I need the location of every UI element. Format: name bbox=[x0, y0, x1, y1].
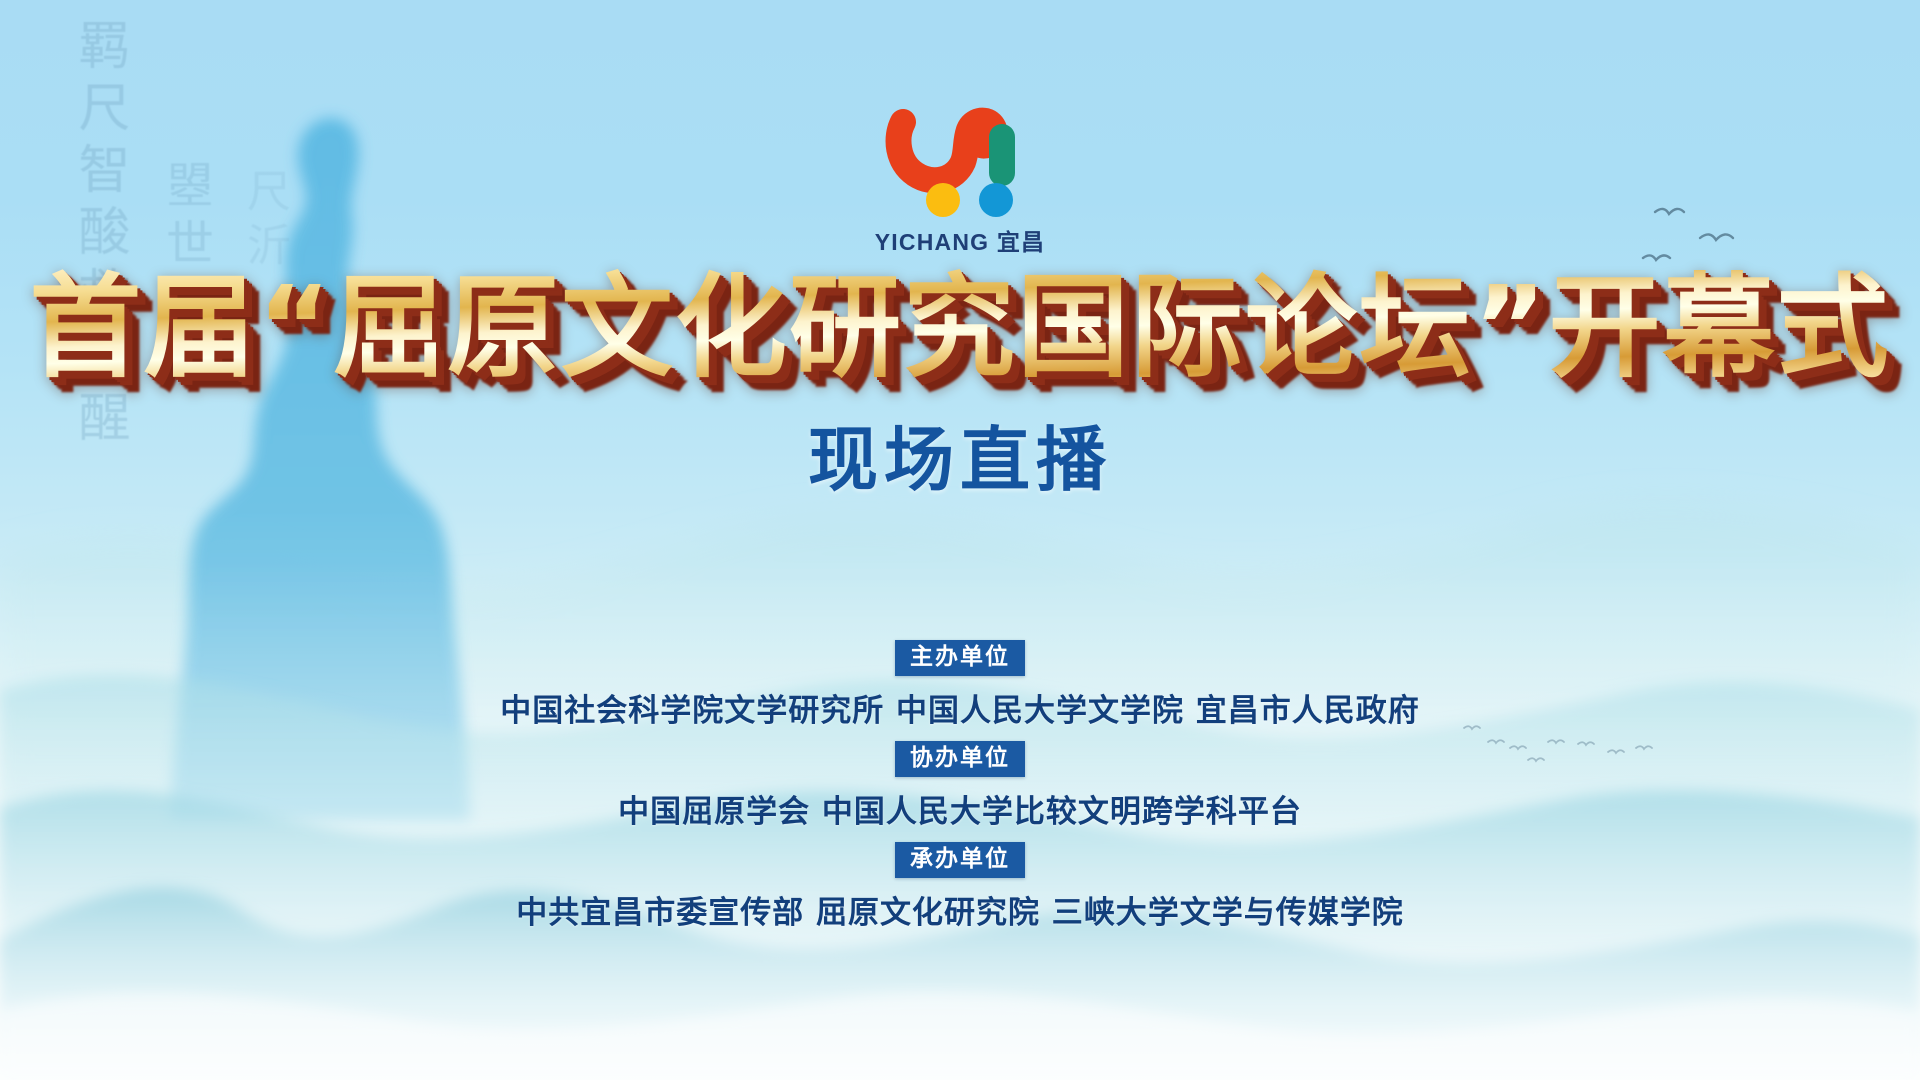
livestream-poster: 羁尺智酸救橙醒 曌世溷 尺沂 YICHANG 宜昌 首届“屈原文化研究国际论坛”… bbox=[0, 0, 1920, 1080]
yichang-brand-mark-icon bbox=[885, 104, 1035, 219]
organizers-section: 主办单位 中国社会科学院文学研究所 中国人民大学文学院 宜昌市人民政府 协办单位… bbox=[0, 640, 1920, 932]
organizer-group-host: 主办单位 中国社会科学院文学研究所 中国人民大学文学院 宜昌市人民政府 bbox=[500, 640, 1420, 730]
livestream-subtitle: 现场直播 bbox=[0, 404, 1920, 505]
host-organization-names: 中国社会科学院文学研究所 中国人民大学文学院 宜昌市人民政府 bbox=[500, 685, 1420, 730]
undertaker-organization-names: 中共宜昌市委宣传部 屈原文化研究院 三峡大学文学与传媒学院 bbox=[516, 887, 1404, 932]
organizer-group-undertaker: 承办单位 中共宜昌市委宣传部 屈原文化研究院 三峡大学文学与传媒学院 bbox=[516, 842, 1404, 932]
yichang-logo: YICHANG 宜昌 bbox=[850, 104, 1070, 257]
co-host-organization-names: 中国屈原学会 中国人民大学比较文明跨学科平台 bbox=[618, 786, 1302, 831]
event-title: 首届“屈原文化研究国际论坛”开幕式 bbox=[0, 262, 1920, 394]
organizer-group-co-host: 协办单位 中国屈原学会 中国人民大学比较文明跨学科平台 bbox=[618, 741, 1302, 831]
seal-script-watermark-3: 尺沂 bbox=[232, 168, 296, 276]
badge-undertaker: 承办单位 bbox=[895, 842, 1025, 878]
badge-co-host: 协办单位 bbox=[895, 741, 1025, 777]
yichang-wordmark: YICHANG 宜昌 bbox=[850, 223, 1070, 257]
bird-flock-upper-right bbox=[1643, 209, 1733, 260]
badge-host: 主办单位 bbox=[895, 640, 1025, 676]
